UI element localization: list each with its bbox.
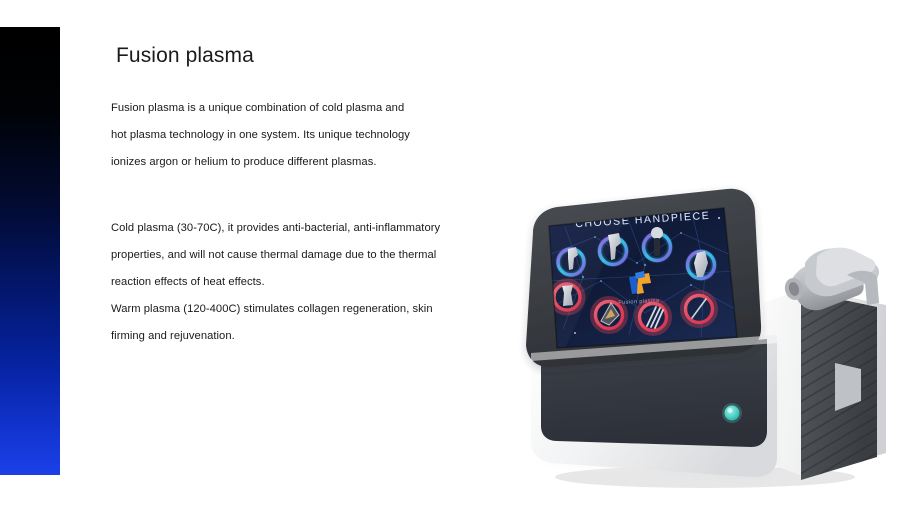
accent-gradient-bar xyxy=(0,27,60,475)
power-button[interactable] xyxy=(722,403,742,423)
detail-line-5: firming and rejuvenation. xyxy=(111,323,441,350)
detail-line-1: Cold plasma (30-70C), it provides anti-b… xyxy=(111,215,441,242)
intro-line-2: hot plasma technology in one system. Its… xyxy=(111,122,441,149)
intro-line-1: Fusion plasma is a unique combination of… xyxy=(111,95,441,122)
detail-line-2: properties, and will not cause thermal d… xyxy=(111,242,441,269)
handpiece-option-4[interactable] xyxy=(685,249,718,282)
detail-line-3: reaction effects of heat effects. xyxy=(111,269,441,296)
intro-paragraph: Fusion plasma is a unique combination of… xyxy=(111,95,441,176)
product-image-fusion-plasma-machine: CHOOSE HANDPIECE xyxy=(505,185,895,490)
page-title: Fusion plasma xyxy=(116,43,254,69)
intro-line-3: ionizes argon or helium to produce diffe… xyxy=(111,149,441,176)
detail-line-4: Warm plasma (120-400C) stimulates collag… xyxy=(111,296,441,323)
detail-paragraph: Cold plasma (30-70C), it provides anti-b… xyxy=(111,215,441,350)
slide-root: Fusion plasma Fusion plasma is a unique … xyxy=(0,0,900,510)
